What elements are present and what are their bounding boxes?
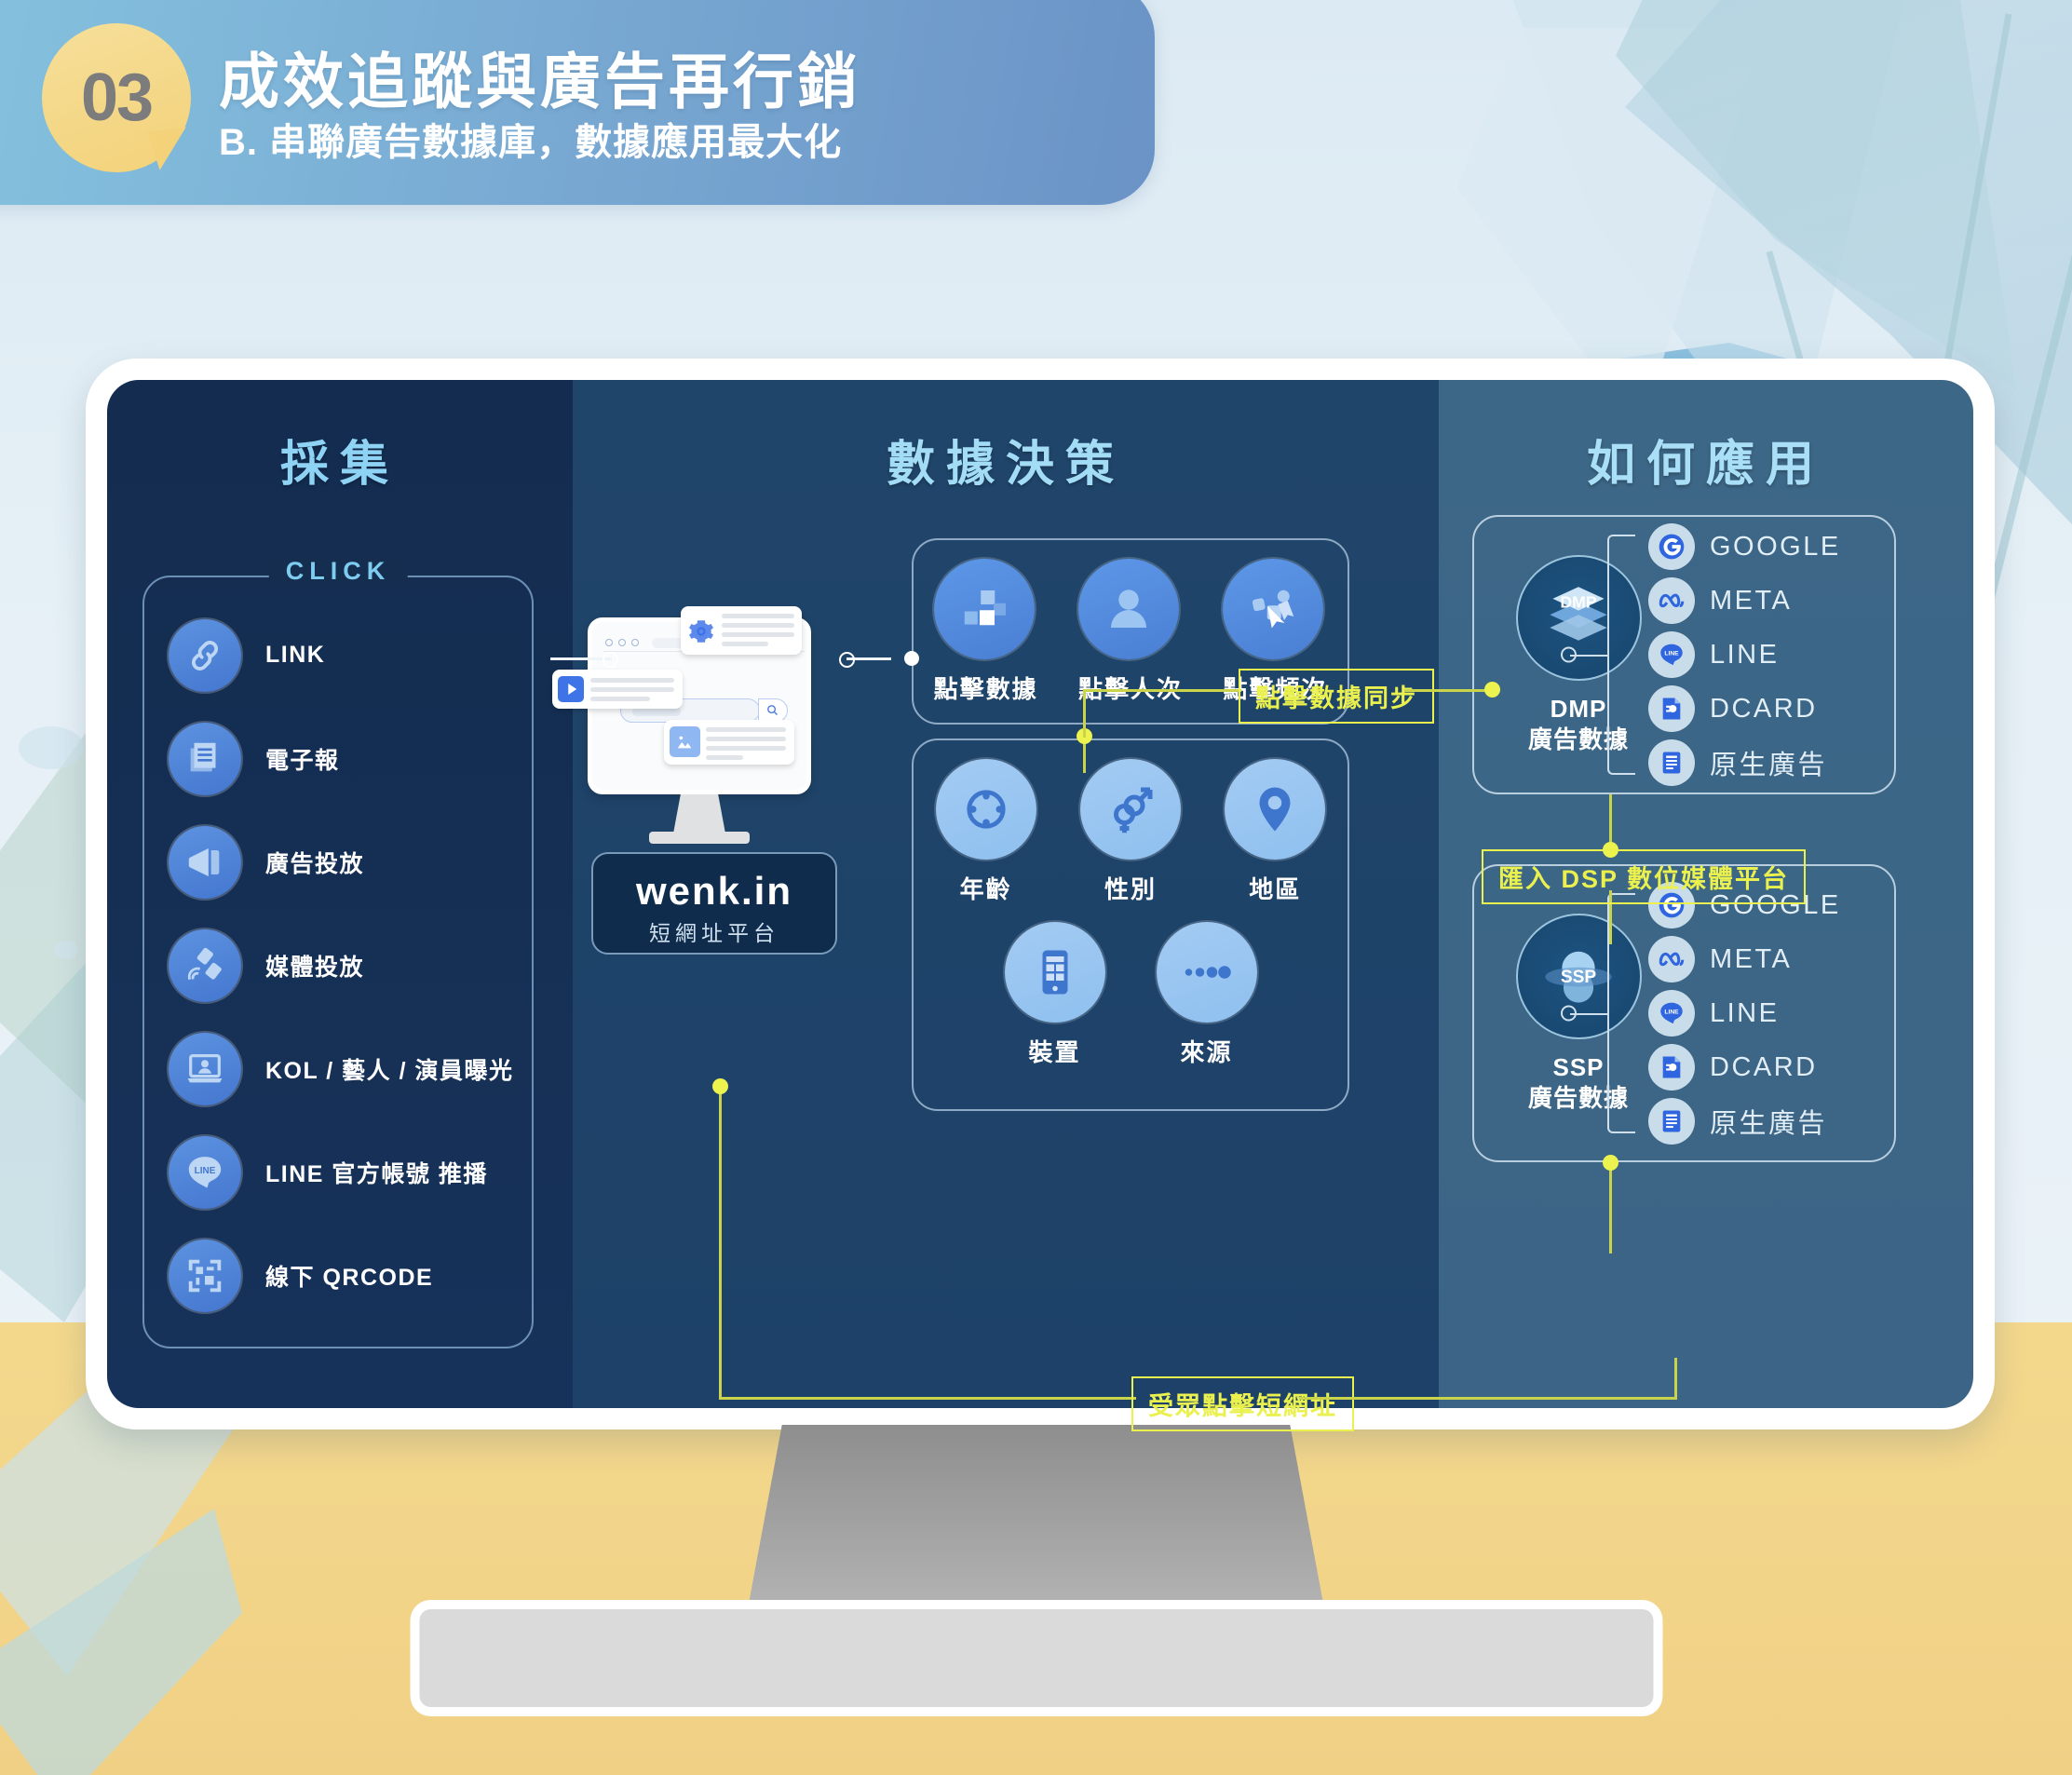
step-number: 03 (81, 60, 152, 136)
dmp-platform-native[interactable]: 原生廣告 (1648, 736, 1881, 790)
platform-label: 原生廣告 (1710, 743, 1827, 782)
platform-label: DCARD (1710, 694, 1818, 725)
search-icon (765, 703, 779, 717)
column-collect: 採集 CLICK LINK 電子報 (107, 380, 573, 1408)
label-audience-click: 受眾點擊短網址 (1131, 1376, 1354, 1431)
audience-vertical-down (719, 1085, 722, 1400)
connector-ring-platform (839, 652, 855, 668)
column-apply-title: 如何應用 (1439, 425, 1973, 495)
column-collect-title: 採集 (107, 425, 573, 495)
step-badge: 03 (42, 23, 191, 172)
click-sync-horizontal-right (1404, 689, 1492, 692)
page-title: 成效追蹤與廣告再行銷 (219, 33, 861, 120)
play-icon (558, 676, 584, 702)
image-card (664, 720, 794, 765)
click-sync-horizontal (1083, 689, 1241, 692)
newsletter-icon (169, 723, 241, 795)
laptop-person-icon (169, 1033, 241, 1105)
label-click-sync: 點擊數據同步 (1239, 669, 1434, 724)
megaphone-icon (169, 826, 241, 899)
settings-card (681, 606, 802, 655)
metric-label: 點擊數據 (934, 671, 1038, 705)
attribute-label: 年齡 (936, 871, 1036, 905)
audience-vertical-up (1674, 1358, 1677, 1400)
attribute-label: 性別 (1080, 871, 1181, 905)
dmp-platform-line[interactable]: LINE LINE (1648, 628, 1881, 682)
collect-item-label: LINE 官方帳號 推播 (265, 1156, 488, 1189)
short-url-platform-illustration: wenk.in 短網址平台 (588, 617, 830, 850)
attribute-label: 地區 (1225, 871, 1325, 905)
collect-item-kol[interactable]: KOL / 藝人 / 演員曝光 (144, 1017, 532, 1120)
attribute-age[interactable]: 年齡 (936, 759, 1036, 905)
dmp-connector-ring (1561, 647, 1577, 663)
monitor-screen: 採集 CLICK LINK 電子報 (107, 380, 1973, 1408)
click-sync-corner (1083, 689, 1086, 738)
attribute-gender[interactable]: 性別 (1080, 759, 1181, 905)
connector-ring-left (603, 652, 618, 668)
attribute-label: 來源 (1157, 1034, 1257, 1068)
blocks-icon (934, 559, 1035, 659)
svg-text:LINE: LINE (195, 1166, 216, 1176)
mini-monitor-base (649, 832, 750, 844)
svg-text:LINE: LINE (1664, 1009, 1679, 1016)
native-ad-icon (1648, 739, 1695, 786)
ssp-platform-dcard[interactable]: DCARD (1648, 1040, 1881, 1094)
dmp-title: DMP 廣告數據 (1495, 694, 1662, 754)
click-group-label: CLICK (269, 557, 408, 586)
ssp-connector-ring (1561, 1006, 1577, 1022)
dmp-platform-dcard[interactable]: DCARD (1648, 682, 1881, 736)
ssp-title-line1: SSP (1552, 1053, 1604, 1081)
mobile-device-icon (1005, 922, 1105, 1023)
video-card (552, 670, 683, 709)
collect-item-media-placement[interactable]: 媒體投放 (144, 914, 532, 1017)
platform-label: LINE (1710, 998, 1779, 1029)
svg-text:LINE: LINE (1664, 651, 1679, 657)
click-sync-dot-end (1484, 682, 1500, 698)
line-icon: LINE (1648, 990, 1695, 1037)
connector-dmp-to-dsp (1609, 794, 1612, 848)
metric-click-data[interactable]: 點擊數據 (934, 559, 1038, 705)
metric-label: 點擊人次 (1078, 671, 1183, 705)
dcard-icon (1648, 685, 1695, 732)
metric-click-users[interactable]: 點擊人次 (1078, 559, 1183, 705)
dmp-bracket (1607, 535, 1635, 775)
page-header: 03 成效追蹤與廣告再行銷 B. 串聯廣告數據庫，數據應用最大化 (0, 0, 1155, 205)
source-dots-icon (1157, 922, 1257, 1023)
attribute-label: 裝置 (1005, 1034, 1105, 1068)
audience-horizontal-right (1299, 1397, 1677, 1400)
collect-item-label: LINK (265, 642, 325, 669)
column-decision-title: 數據決策 (573, 425, 1439, 495)
platform-label: DCARD (1710, 1052, 1818, 1083)
collect-item-label: KOL / 藝人 / 演員曝光 (265, 1052, 514, 1086)
connector-dot-ssp-bottom (1603, 1155, 1618, 1171)
dcard-icon (1648, 1044, 1695, 1091)
platform-nameplate: wenk.in 短網址平台 (591, 852, 837, 955)
collect-item-qrcode[interactable]: 線下 QRCODE (144, 1224, 532, 1327)
dmp-platform-list: GOOGLE META LINE LINE (1648, 520, 1881, 790)
age-target-icon (936, 759, 1036, 860)
platform-label: GOOGLE (1710, 532, 1841, 562)
platform-label: 原生廣告 (1710, 1102, 1827, 1141)
click-sources-group: CLICK LINK 電子報 (142, 576, 534, 1348)
platform-name: wenk.in (593, 869, 835, 914)
dmp-panel: DMP DMP 廣告數據 GOOGLE (1472, 515, 1896, 794)
gear-icon (687, 617, 715, 645)
meta-icon (1648, 577, 1695, 624)
collect-item-newsletter[interactable]: 電子報 (144, 707, 532, 810)
link-icon (169, 619, 241, 692)
ssp-platform-list: GOOGLE META LINE LINE (1648, 878, 1881, 1148)
collect-item-label: 廣告投放 (265, 846, 364, 879)
browser-dot-2 (618, 639, 626, 646)
background-dot-2 (54, 941, 78, 959)
google-icon (1648, 523, 1695, 570)
collect-item-line-oa[interactable]: LINE LINE 官方帳號 推播 (144, 1120, 532, 1224)
attribute-device[interactable]: 裝置 (1005, 922, 1105, 1068)
line-icon: LINE (1648, 631, 1695, 678)
monitor-stand-base (419, 1609, 1653, 1707)
dmp-platform-google[interactable]: GOOGLE (1648, 520, 1881, 574)
background-dot-1 (19, 726, 84, 769)
audience-horizontal-left (719, 1397, 1136, 1400)
ssp-panel: SSP SSP 廣告數據 GOOGLE (1472, 864, 1896, 1162)
ssp-platform-meta[interactable]: META (1648, 932, 1881, 986)
mini-monitor-stand (673, 794, 725, 833)
image-icon (670, 726, 700, 757)
dmp-badge-text: DMP (1560, 592, 1596, 611)
gender-icon (1080, 759, 1181, 860)
platform-label: META (1710, 944, 1792, 975)
connector-ssp-down (1609, 1160, 1612, 1253)
collect-item-label: 媒體投放 (265, 949, 364, 982)
ssp-badge-text: SSP (1561, 968, 1597, 987)
line-icon: LINE (169, 1136, 241, 1209)
connector-dot-metrics (904, 651, 919, 666)
ssp-platform-line[interactable]: LINE LINE (1648, 986, 1881, 1040)
dmp-platform-meta[interactable]: META (1648, 574, 1881, 628)
platform-label: META (1710, 586, 1792, 617)
column-apply: 如何應用 DMP DMP 廣告數據 (1439, 380, 1973, 1408)
collect-item-link[interactable]: LINK (144, 603, 532, 707)
satellite-icon (169, 929, 241, 1002)
page-subtitle: B. 串聯廣告數據庫，數據應用最大化 (219, 112, 842, 166)
collect-item-label: 線下 QRCODE (265, 1259, 433, 1293)
ssp-platform-native[interactable]: 原生廣告 (1648, 1094, 1881, 1148)
attribute-source[interactable]: 來源 (1157, 922, 1257, 1068)
platform-tagline: 短網址平台 (593, 915, 835, 947)
audience-attributes-panel: 年齡 性別 地區 (912, 738, 1349, 1111)
qrcode-icon (169, 1240, 241, 1312)
collect-item-ad-placement[interactable]: 廣告投放 (144, 810, 532, 914)
platform-label: LINE (1710, 640, 1779, 671)
label-import-dsp: 匯入 DSP 數位媒體平台 (1482, 849, 1806, 904)
browser-dot-3 (631, 639, 639, 646)
audience-dot-start (712, 1078, 728, 1094)
meta-icon (1648, 936, 1695, 982)
monitor-stand-neck (748, 1425, 1325, 1611)
column-decision: 數據決策 (573, 380, 1439, 1408)
native-ad-icon (1648, 1098, 1695, 1145)
browser-dot-1 (605, 639, 613, 646)
ssp-title: SSP 廣告數據 (1495, 1052, 1662, 1113)
location-pin-icon (1225, 759, 1325, 860)
person-icon (1078, 559, 1179, 659)
cursor-click-icon (1223, 559, 1323, 659)
attribute-region[interactable]: 地區 (1225, 759, 1325, 905)
collect-item-label: 電子報 (265, 742, 340, 776)
dmp-title-line1: DMP (1551, 695, 1607, 723)
